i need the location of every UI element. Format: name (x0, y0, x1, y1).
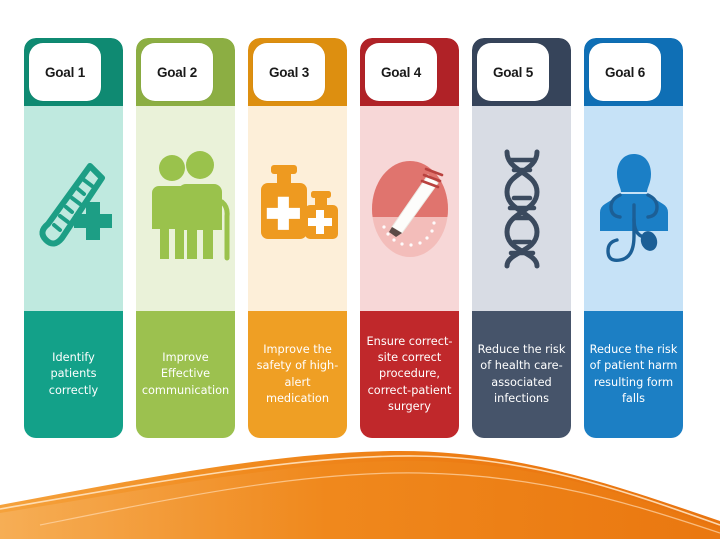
goal-caption-6: Reduce the risk of patient harm resultin… (584, 311, 683, 438)
goal-column-4[interactable]: Goal 4 (360, 38, 459, 438)
medicine-bottles-icon (255, 161, 341, 257)
goal-caption-text-6: Reduce the risk of patient harm resultin… (589, 342, 678, 406)
goal-caption-text-4: Ensure correct-site correct procedure, c… (365, 334, 454, 414)
goal-column-5[interactable]: Goal 5 (472, 38, 571, 438)
goal-caption-text-3: Improve the safety of high-alert medicat… (253, 342, 342, 406)
goal-icon-panel-6 (584, 106, 683, 311)
goal-header-2: Goal 2 (136, 38, 235, 106)
goal-header-1: Goal 1 (24, 38, 123, 106)
two-people-caregiver-icon (142, 150, 230, 268)
goal-chip-4[interactable]: Goal 4 (365, 43, 437, 101)
goal-icon-panel-4 (360, 106, 459, 311)
goal-chip-2[interactable]: Goal 2 (141, 43, 213, 101)
slide-root: Goal 1 (0, 0, 720, 539)
goal-icon-panel-1 (24, 106, 123, 311)
goal-chip-label-6: Goal 6 (605, 65, 645, 80)
goal-chip-label-2: Goal 2 (157, 65, 197, 80)
goal-chip-label-5: Goal 5 (493, 65, 533, 80)
goal-header-6: Goal 6 (584, 38, 683, 106)
goal-column-1[interactable]: Goal 1 (24, 38, 123, 438)
goal-caption-3: Improve the safety of high-alert medicat… (248, 311, 347, 438)
goal-caption-5: Reduce the risk of health care-associate… (472, 311, 571, 438)
goal-column-6[interactable]: Goal 6 (584, 38, 683, 438)
goal-column-2[interactable]: Goal 2 (136, 38, 235, 438)
goal-caption-text-2: Improve Effective communication (141, 350, 230, 398)
goal-chip-5[interactable]: Goal 5 (477, 43, 549, 101)
goal-icon-panel-5 (472, 106, 571, 311)
goal-chip-label-1: Goal 1 (45, 65, 85, 80)
orange-wave-decoration (0, 429, 720, 539)
goal-caption-text-1: Identify patients correctly (29, 350, 118, 398)
goal-chip-6[interactable]: Goal 6 (589, 43, 661, 101)
goal-icon-panel-3 (248, 106, 347, 311)
dna-helix-icon (491, 148, 553, 270)
goal-chip-1[interactable]: Goal 1 (29, 43, 101, 101)
goal-header-5: Goal 5 (472, 38, 571, 106)
goals-band: Goal 1 (0, 0, 720, 445)
goal-header-4: Goal 4 (360, 38, 459, 106)
goal-icon-panel-2 (136, 106, 235, 311)
doctor-stethoscope-icon (591, 148, 677, 270)
goal-caption-1: Identify patients correctly (24, 311, 123, 438)
scalpel-incision-icon (366, 155, 454, 263)
goal-header-3: Goal 3 (248, 38, 347, 106)
thermometer-cross-icon (32, 156, 116, 262)
goal-caption-2: Improve Effective communication (136, 311, 235, 438)
goal-caption-text-5: Reduce the risk of health care-associate… (477, 342, 566, 406)
goal-chip-label-4: Goal 4 (381, 65, 421, 80)
goal-column-3[interactable]: Goal 3 (248, 38, 347, 438)
goal-caption-4: Ensure correct-site correct procedure, c… (360, 311, 459, 438)
goal-chip-3[interactable]: Goal 3 (253, 43, 325, 101)
goal-chip-label-3: Goal 3 (269, 65, 309, 80)
